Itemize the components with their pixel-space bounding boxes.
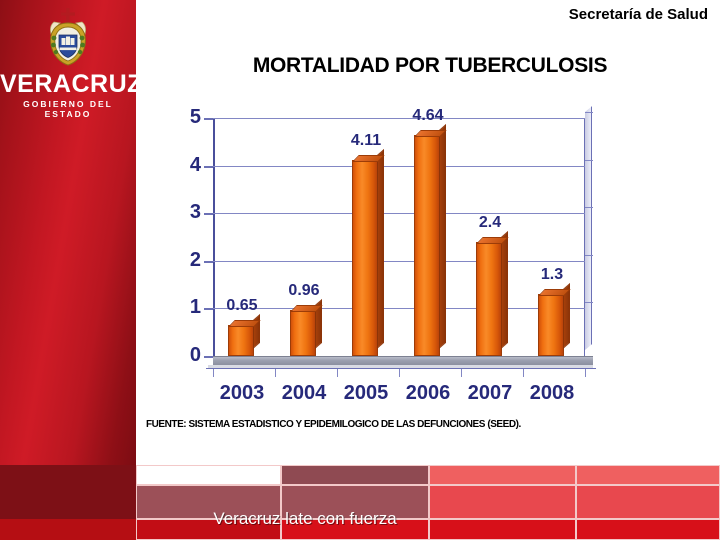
chart-title: MORTALIDAD POR TUBERCULOSIS xyxy=(150,54,710,78)
x-category-label: 2007 xyxy=(455,382,525,405)
bar xyxy=(476,242,502,356)
gridline-extension xyxy=(585,112,593,113)
x-axis-baseline xyxy=(206,368,596,369)
bar xyxy=(352,160,378,356)
secretariat-title: Secretaría de Salud xyxy=(569,6,708,23)
gridline xyxy=(213,261,585,262)
y-tick-label: 5 xyxy=(175,107,201,127)
y-tick-label: 1 xyxy=(175,297,201,317)
x-tick-mark xyxy=(523,369,524,377)
brand-submark: GOBIERNO DEL ESTADO xyxy=(0,99,136,119)
plot-right-wall xyxy=(585,106,592,350)
y-tick-mark xyxy=(204,213,213,215)
x-tick-mark xyxy=(337,369,338,377)
x-category-label: 2004 xyxy=(269,382,339,405)
bar-value-label: 1.3 xyxy=(525,266,579,284)
slide-canvas: VERACRUZ GOBIERNO DEL ESTADO Secretaría … xyxy=(0,0,720,540)
y-tick-mark xyxy=(204,261,213,263)
footer-tagline: Veracruz late con fuerza xyxy=(0,509,610,529)
gridline-extension xyxy=(585,255,593,256)
bar xyxy=(228,325,254,356)
x-tick-mark xyxy=(399,369,400,377)
y-tick-label: 3 xyxy=(175,202,201,222)
bar xyxy=(290,310,316,356)
plot-area xyxy=(213,118,585,356)
bar-value-label: 0.96 xyxy=(277,282,331,300)
bar-side xyxy=(377,149,384,349)
bar-value-label: 4.11 xyxy=(339,132,393,150)
x-tick-mark xyxy=(461,369,462,377)
x-category-label: 2008 xyxy=(517,382,587,405)
y-tick-label: 4 xyxy=(175,155,201,175)
bar-face xyxy=(538,294,564,356)
band-cell xyxy=(281,465,429,485)
y-tick-mark xyxy=(204,118,213,120)
brand-sidebar: VERACRUZ GOBIERNO DEL ESTADO xyxy=(0,0,136,465)
x-category-label: 2003 xyxy=(207,382,277,405)
bar xyxy=(414,135,440,356)
bar-value-label: 0.65 xyxy=(215,297,269,315)
bar-value-label: 4.64 xyxy=(401,107,455,125)
band-cell xyxy=(429,465,576,485)
y-tick-label: 0 xyxy=(175,345,201,365)
bar xyxy=(538,294,564,356)
bar-chart: 012345 0.650.964.114.642.41.3 2003200420… xyxy=(186,106,606,406)
y-tick-mark xyxy=(204,308,213,310)
source-footnote: FUENTE: SISTEMA ESTADISTICO Y EPIDEMILOG… xyxy=(146,419,521,430)
band-cell xyxy=(136,465,281,485)
band-cell xyxy=(576,465,720,485)
veracruz-coat-of-arms-icon xyxy=(40,8,96,68)
y-tick-label: 2 xyxy=(175,250,201,270)
bar-face xyxy=(414,135,440,356)
gridline-extension xyxy=(585,160,593,161)
bar-side xyxy=(439,124,446,349)
y-tick-mark xyxy=(204,166,213,168)
x-tick-mark xyxy=(585,369,586,377)
gridline xyxy=(213,166,585,167)
gridline-extension xyxy=(585,302,593,303)
x-category-label: 2005 xyxy=(331,382,401,405)
brand-wordmark: VERACRUZ xyxy=(0,72,136,97)
gridline-extension xyxy=(585,207,593,208)
bar-face xyxy=(352,160,378,356)
chart-floor xyxy=(213,356,593,365)
bar-face xyxy=(290,310,316,356)
x-tick-mark xyxy=(213,369,214,377)
bar-value-label: 2.4 xyxy=(463,214,517,232)
bar-side xyxy=(501,231,508,349)
y-tick-mark xyxy=(204,356,213,358)
bar-face xyxy=(228,325,254,356)
gridline xyxy=(213,213,585,214)
x-category-label: 2006 xyxy=(393,382,463,405)
bar-face xyxy=(476,242,502,356)
gridline xyxy=(213,118,585,119)
x-tick-mark xyxy=(275,369,276,377)
